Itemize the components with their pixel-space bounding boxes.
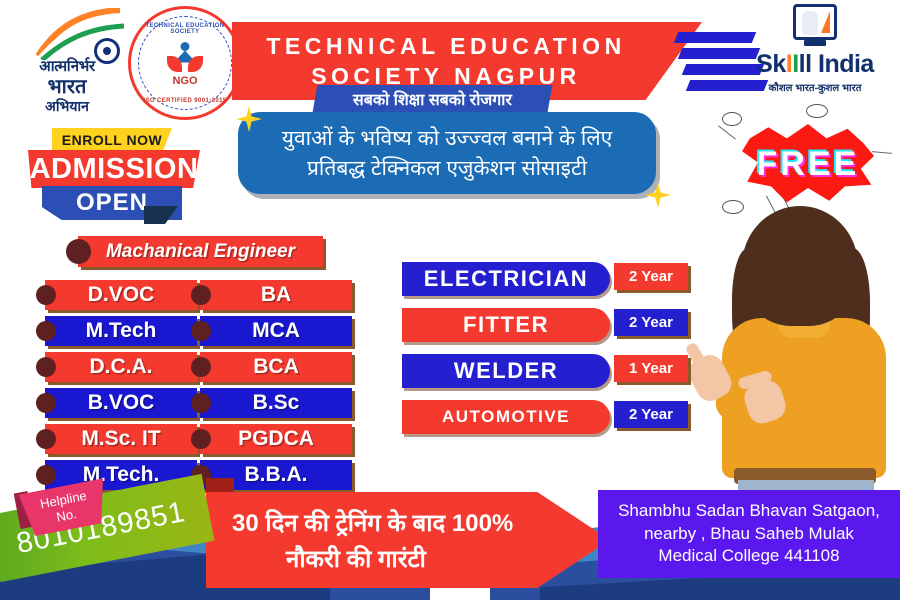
course-item[interactable]: PGDCA [200,424,352,454]
job-guarantee-banner: 30 दिन की ट्रेनिंग के बाद 100% नौकरी की … [206,492,610,588]
course-item[interactable]: MCA [200,316,352,346]
ashoka-chakra-icon [94,38,120,64]
department-title-bar: Machanical Engineer [78,236,323,267]
trade-duration-label: 2 Year [629,268,673,285]
comic-puff-icon-1 [722,112,742,126]
address-line2: nearby , Bhau Saheb Mulak [644,523,854,546]
trade-label: ELECTRICIAN [424,266,588,292]
mission-line1: युवाओं के भविष्य को उज्ज्वल बनाने के लिए [282,124,612,152]
trade-name-bar[interactable]: AUTOMOTIVE [402,400,610,434]
enroll-now-label: ENROLL NOW [52,128,172,152]
trade-name-bar[interactable]: ELECTRICIAN [402,262,610,296]
guarantee-line1: 30 दिन की ट्रेनिंग के बाद 100% [232,506,513,539]
seal-emblem-icon [167,42,203,74]
bullet-dot-icon [36,465,56,485]
course-label: PGDCA [238,427,314,451]
course-item[interactable]: BCA [200,352,352,382]
bullet-dot-icon [36,321,56,341]
mission-statement-box: युवाओं के भविष्य को उज्ज्वल बनाने के लिए… [238,112,656,194]
admission-label: ADMISSION [28,150,200,188]
trade-duration-badge: 2 Year [614,263,688,290]
address-line1: Shambhu Sadan Bhavan Satgaon, [618,500,880,523]
skill-india-logo: SkIIll India कौशल भारत-कुशल भारत [742,4,888,104]
address-line3: Medical College 441108 [658,545,839,568]
course-item[interactable]: B.Sc [200,388,352,418]
free-starburst-badge: FREE [742,124,874,204]
seal-center-text: NGO [172,75,197,87]
header-title-line1: TECHNICAL EDUCATION [266,31,625,61]
tes-society-seal-logo: TECHNICAL EDUCATION SOCIETY NGO ISO CERT… [128,6,242,120]
trade-duration-badge: 2 Year [614,401,688,428]
course-label: D.VOC [88,283,155,307]
poster-canvas: आत्मनिर्भर भारत अभियान TECHNICAL EDUCATI… [0,0,900,600]
trade-name-bar[interactable]: FITTER [402,308,610,342]
bullet-dot-icon [36,357,56,377]
admission-open-badge: ENROLL NOW ADMISSION OPEN [28,128,208,220]
trade-label: WELDER [454,358,558,384]
bullet-dot-icon [36,285,56,305]
bullet-dot-icon [191,357,211,377]
trade-duration-badge: 1 Year [614,355,688,382]
guarantee-line2: नौकरी की गारंटी [232,542,426,575]
bullet-dot-icon [191,321,211,341]
bullet-dot-icon [36,393,56,413]
course-item[interactable]: D.C.A. [45,352,197,382]
guarantee-fold-decoration [206,478,234,494]
course-label: D.C.A. [90,355,153,379]
course-item[interactable]: D.VOC [45,280,197,310]
course-label: B.B.A. [245,463,308,487]
bullet-dot-icon [66,239,91,264]
trade-row: FITTER2 Year [402,308,692,342]
course-item[interactable]: BA [200,280,352,310]
skill-india-wordmark: SkIIll India [756,50,874,79]
anb-line3: अभियान [45,97,89,116]
trade-duration-label: 1 Year [629,360,673,377]
bullet-dot-icon [191,393,211,413]
bullet-dot-icon [191,429,211,449]
bullet-dot-icon [191,285,211,305]
course-label: BA [261,283,291,307]
pointing-woman-photo [698,206,894,506]
seal-arc-bottom-text: ISO CERTIFIED 9001-2015 [139,98,231,104]
helpline-label-line2: No. [55,506,78,526]
comic-speedline-2 [872,151,892,154]
free-label: FREE [757,145,860,184]
course-label: M.Tech [86,319,157,343]
trade-duration-label: 2 Year [629,406,673,423]
aatmanirbhar-bharat-logo: आत्मनिर्भर भारत अभियान [8,8,126,116]
course-list-right: BAMCABCAB.ScPGDCAB.B.A. [200,280,352,490]
course-item[interactable]: M.Sc. IT [45,424,197,454]
monitor-icon [793,4,837,40]
trade-row: AUTOMOTIVE2 Year [402,400,692,434]
course-list-left: D.VOCM.TechD.C.A.B.VOCM.Sc. ITM.Tech. [45,280,197,490]
course-item[interactable]: M.Tech [45,316,197,346]
header-tagline-text: सबको शिक्षा सबको रोजगार [353,88,512,110]
course-label: B.Sc [253,391,300,415]
course-label: B.VOC [88,391,155,415]
address-box: Shambhu Sadan Bhavan Satgaon, nearby , B… [598,490,900,578]
header-tagline-banner: सबको शिक्षा सबको रोजगार [313,85,553,112]
trade-row: ELECTRICIAN2 Year [402,262,692,296]
comic-puff-icon-2 [806,104,828,118]
course-item[interactable]: B.VOC [45,388,197,418]
mission-line2: प्रतिबद्ध टेक्निकल एजुकेशन सोसाइटी [307,154,587,182]
trade-duration-badge: 2 Year [614,309,688,336]
trade-row: WELDER1 Year [402,354,692,388]
department-title-label: Machanical Engineer [106,241,295,263]
trade-label: AUTOMOTIVE [442,407,570,427]
bullet-dot-icon [36,429,56,449]
trade-course-list: ELECTRICIAN2 YearFITTER2 YearWELDER1 Yea… [402,262,692,434]
course-label: MCA [252,319,300,343]
course-label: BCA [253,355,299,379]
trade-name-bar[interactable]: WELDER [402,354,610,388]
anb-line2: भारत [48,72,87,99]
seal-arc-top-text: TECHNICAL EDUCATION SOCIETY [139,23,231,35]
trade-duration-label: 2 Year [629,314,673,331]
course-label: M.Sc. IT [81,427,160,451]
comic-speedline-1 [718,125,736,139]
skill-india-subtitle: कौशल भारत-कुशल भारत [769,80,862,94]
trade-label: FITTER [463,312,549,338]
